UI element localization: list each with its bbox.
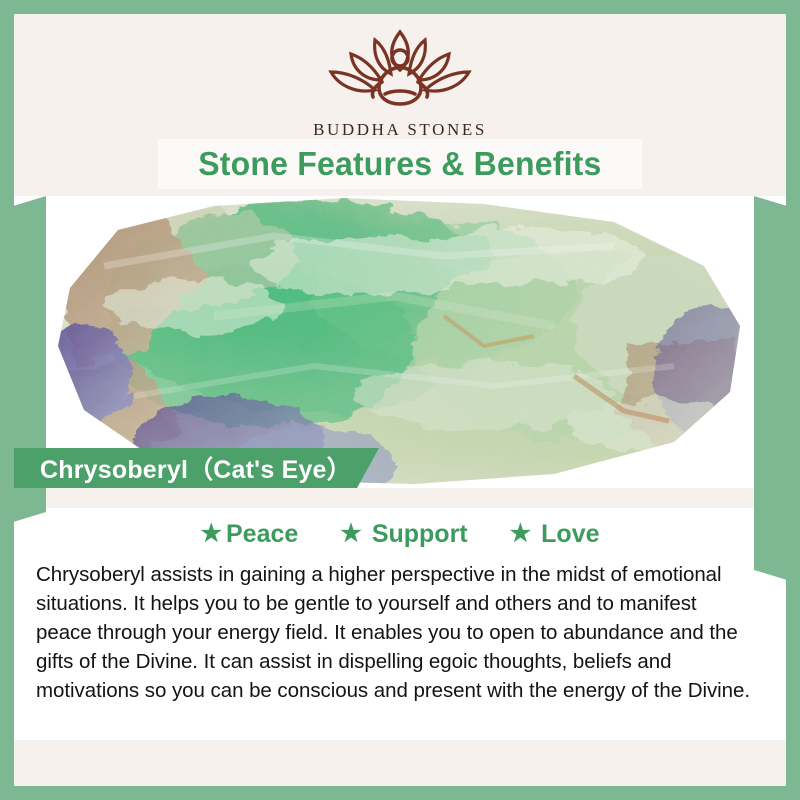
lotus-meditation-figure-icon — [315, 24, 485, 112]
stone-description: Chrysoberyl assists in gaining a higher … — [36, 560, 754, 705]
benefits-row: ★ Peace ★ Support ★ Love — [14, 515, 786, 553]
benefit-item-support: ★ Support — [340, 520, 467, 549]
stone-name-label: Chrysoberyl（Cat's Eye） — [40, 450, 352, 486]
frame-border-bottom — [0, 786, 800, 800]
stone-name-banner: Chrysoberyl（Cat's Eye） — [14, 448, 379, 488]
brand-name: BUDDHA STONES — [313, 120, 487, 140]
stone-photo — [14, 196, 786, 488]
benefit-label: Support — [372, 520, 468, 549]
frame-border-top — [0, 0, 800, 14]
benefit-item-love: ★ Love — [510, 520, 600, 549]
star-icon: ★ — [510, 522, 532, 546]
stone-info-poster: BUDDHA STONES Stone Features & Benefits … — [0, 0, 800, 800]
cream-strip — [14, 486, 786, 508]
benefit-label: Peace — [226, 520, 298, 549]
benefit-item-peace: ★ Peace — [200, 520, 298, 549]
benefit-label: Love — [541, 520, 599, 549]
page-title: Stone Features & Benefits — [198, 145, 601, 183]
cream-panel-bottom — [14, 740, 786, 786]
star-icon: ★ — [200, 522, 222, 546]
title-banner: Stone Features & Benefits — [158, 139, 642, 189]
brand-logo: BUDDHA STONES — [0, 24, 800, 140]
star-icon: ★ — [340, 522, 362, 546]
